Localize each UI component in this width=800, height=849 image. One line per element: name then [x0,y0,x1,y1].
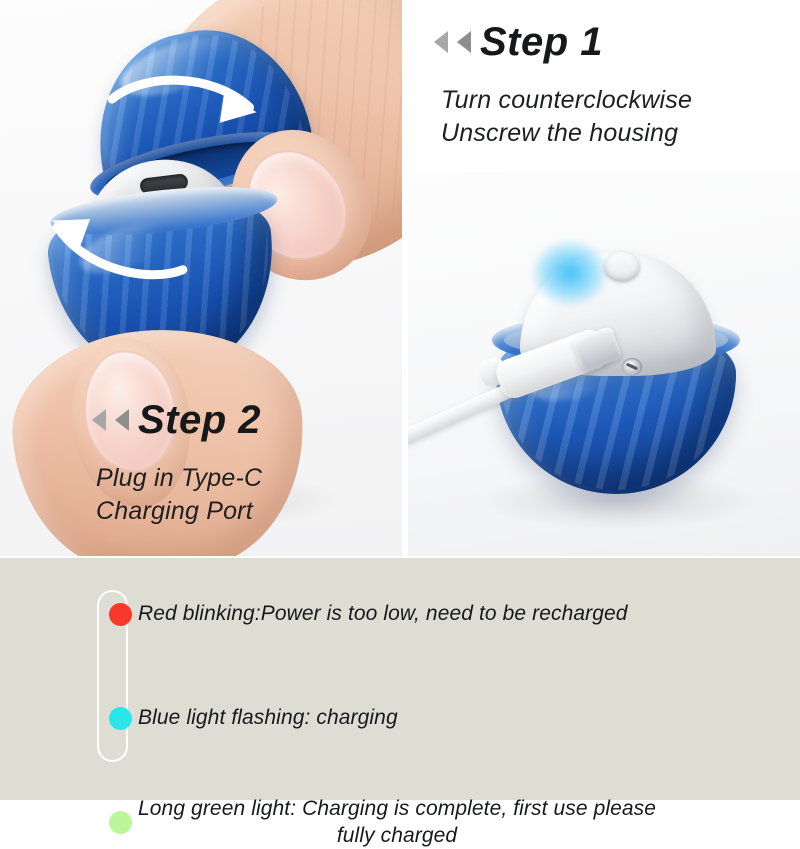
step-1-heading: Step 1 [434,22,603,62]
power-button-icon[interactable] [604,252,640,282]
legend-text-red: Red blinking:Power is too low, need to b… [138,601,628,628]
step-2-body: Plug in Type-C Charging Port [96,462,262,528]
double-left-triangle-icon-2 [457,31,471,53]
legend-text-green: Long green light: Charging is complete, … [138,795,656,849]
led-status-legend: Red blinking:Power is too low, need to b… [0,558,800,800]
step-2-title: Step 2 [138,400,261,440]
step-1-body: Turn counterclockwise Unscrew the housin… [441,84,692,150]
red-status-dot-icon [109,603,132,626]
usb-c-cable-charging-blue-ball-photo [408,172,800,556]
double-left-triangle-icon [434,31,448,53]
curved-rotation-arrow-icon-2 [38,210,193,290]
step-2-heading: Step 2 [92,400,261,440]
screw-icon [622,358,642,376]
legend-rows: Red blinking:Power is too low, need to b… [138,588,738,744]
legend-row: Long green light: Charging is complete, … [138,796,738,848]
legend-row: Red blinking:Power is too low, need to b… [138,588,738,640]
step-1-title: Step 1 [480,22,603,62]
legend-text-green-line2: fully charged [138,822,656,849]
blue-status-dot-icon [109,707,132,730]
double-left-triangle-icon-4 [115,409,129,431]
green-status-dot-icon [109,811,132,834]
double-left-triangle-icon-3 [92,409,106,431]
legend-row: Blue light flashing: charging [138,692,738,744]
product-instruction-sheet: Step 1 Turn counterclockwise Unscrew the… [0,0,800,800]
legend-text-green-line1: Long green light: Charging is complete, … [138,797,656,820]
legend-text-blue: Blue light flashing: charging [138,705,398,732]
blue-led-glow-icon [532,240,608,306]
